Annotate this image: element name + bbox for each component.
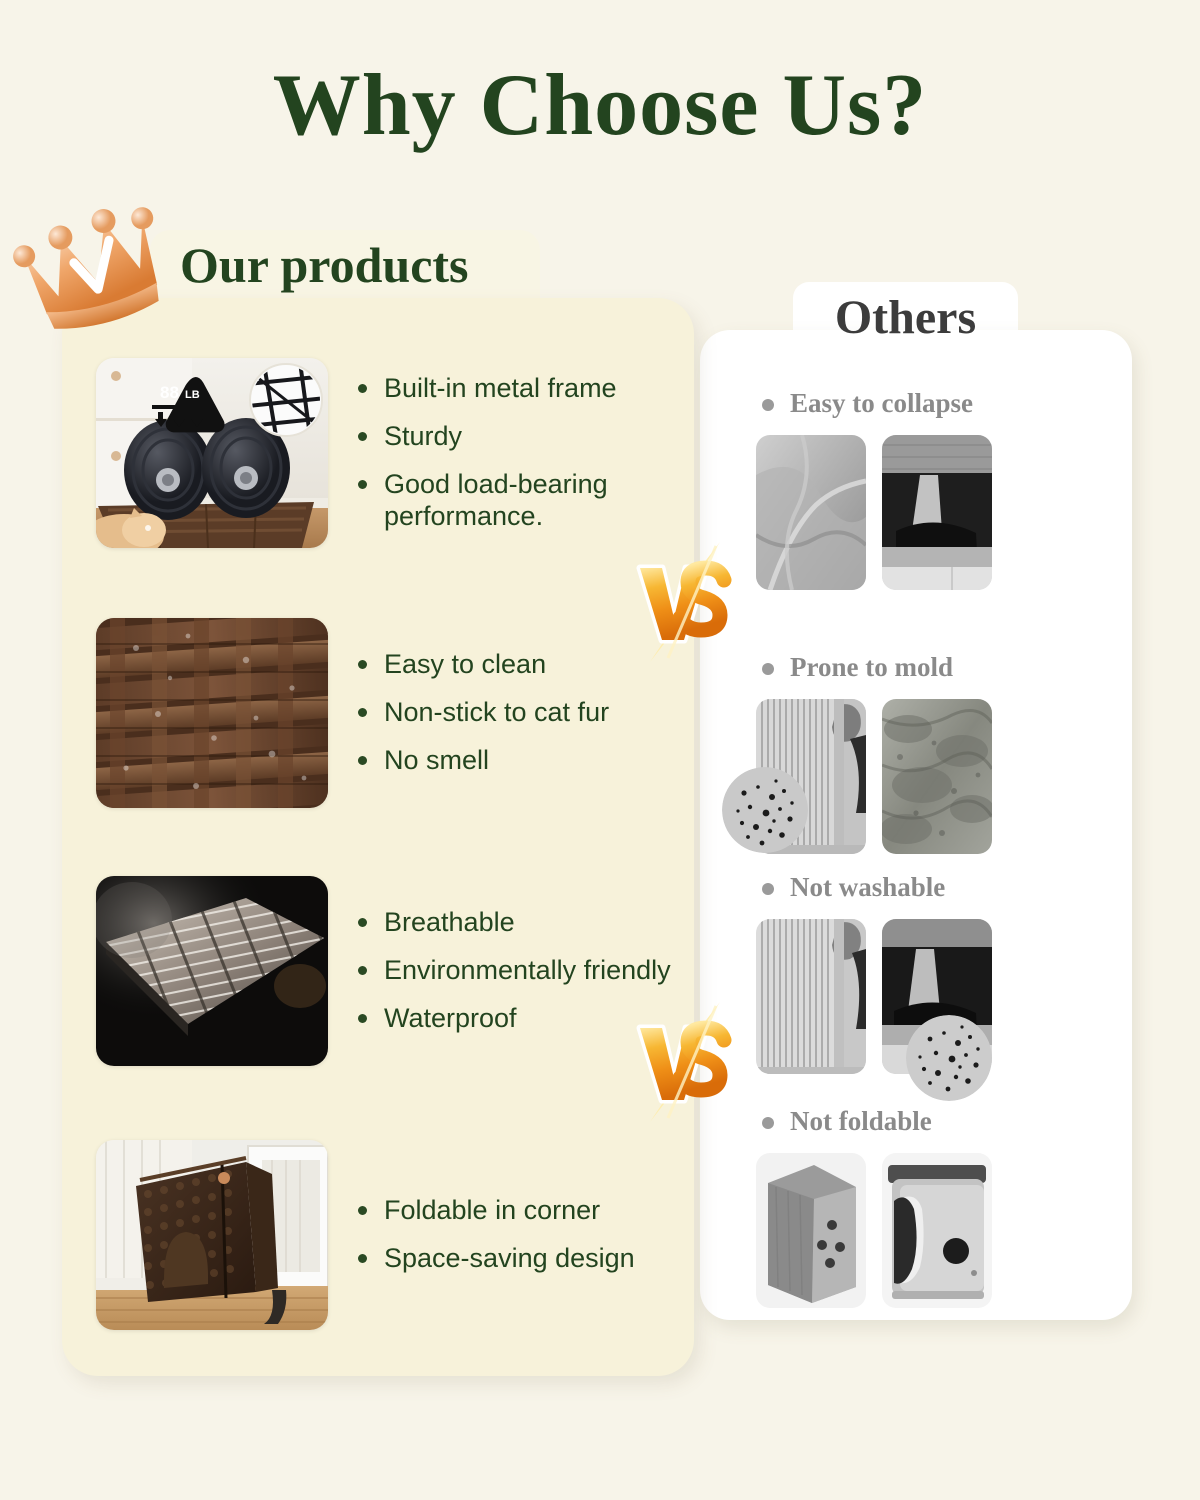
- mold-stained-surface-photo: [882, 699, 992, 854]
- others-block-3: Not washable: [756, 872, 992, 1074]
- our-product-bullets-3: Breathable Environmentally friendly Wate…: [354, 907, 671, 1035]
- page-title: Why Choose Us?: [0, 62, 1200, 150]
- list-item: Built-in metal frame: [354, 373, 704, 405]
- metal-frame-load-capacity-photo: 88 LB: [96, 358, 328, 548]
- others-heading: Not washable: [756, 872, 992, 903]
- collapsed-fabric-house-photo: [882, 435, 992, 590]
- list-item: Sturdy: [354, 421, 704, 453]
- crown-icon: [8, 198, 176, 330]
- list-item: Good load-bearing performance.: [354, 469, 704, 533]
- our-product-row-1: 88 LB Built-in metal: [96, 358, 704, 548]
- our-product-row-4: Foldable in corner Space-saving design: [96, 1140, 635, 1330]
- list-item: Non-stick to cat fur: [354, 697, 609, 729]
- list-item: Breathable: [354, 907, 671, 939]
- our-product-bullets-2: Easy to clean Non-stick to cat fur No sm…: [354, 649, 609, 777]
- woven-rattan-waterproof-texture-photo: [96, 618, 328, 808]
- others-heading: Prone to mold: [756, 652, 992, 683]
- folded-wicker-litter-box-photo: [96, 1140, 328, 1330]
- unwashable-fabric-box-photo: [756, 919, 866, 1074]
- list-item: Waterproof: [354, 1003, 671, 1035]
- our-product-row-2: Easy to clean Non-stick to cat fur No sm…: [96, 618, 609, 808]
- list-item: No smell: [354, 745, 609, 777]
- svg-text:88: 88: [160, 383, 179, 402]
- others-heading: Easy to collapse: [756, 388, 992, 419]
- others-block-4: Not foldable: [756, 1106, 992, 1308]
- list-item: Easy to clean: [354, 649, 609, 681]
- rigid-plastic-box-photo: [756, 1153, 866, 1308]
- our-product-bullets-4: Foldable in corner Space-saving design: [354, 1195, 635, 1275]
- others-block-1: Easy to collapse: [756, 388, 992, 590]
- others-block-2: Prone to mold: [756, 652, 992, 854]
- rigid-plastic-house-photo: [882, 1153, 992, 1308]
- list-item: Environmentally friendly: [354, 955, 671, 987]
- vs-badge-1: [628, 540, 740, 664]
- others-heading: Not foldable: [756, 1106, 992, 1137]
- mold-spots-circle: [906, 1015, 992, 1101]
- svg-text:LB: LB: [185, 389, 200, 401]
- vs-badge-2: [628, 1000, 740, 1124]
- mold-spots-circle: [722, 767, 808, 853]
- breathable-woven-panel-photo: [96, 876, 328, 1066]
- our-product-row-3: Breathable Environmentally friendly Wate…: [96, 876, 671, 1066]
- our-product-bullets-1: Built-in metal frame Sturdy Good load-be…: [354, 373, 704, 532]
- collapsed-fabric-cover-photo: [756, 435, 866, 590]
- others-tab-label: Others: [793, 290, 1018, 345]
- our-products-tab-label: Our products: [180, 236, 469, 294]
- list-item: Foldable in corner: [354, 1195, 635, 1227]
- list-item: Space-saving design: [354, 1243, 635, 1275]
